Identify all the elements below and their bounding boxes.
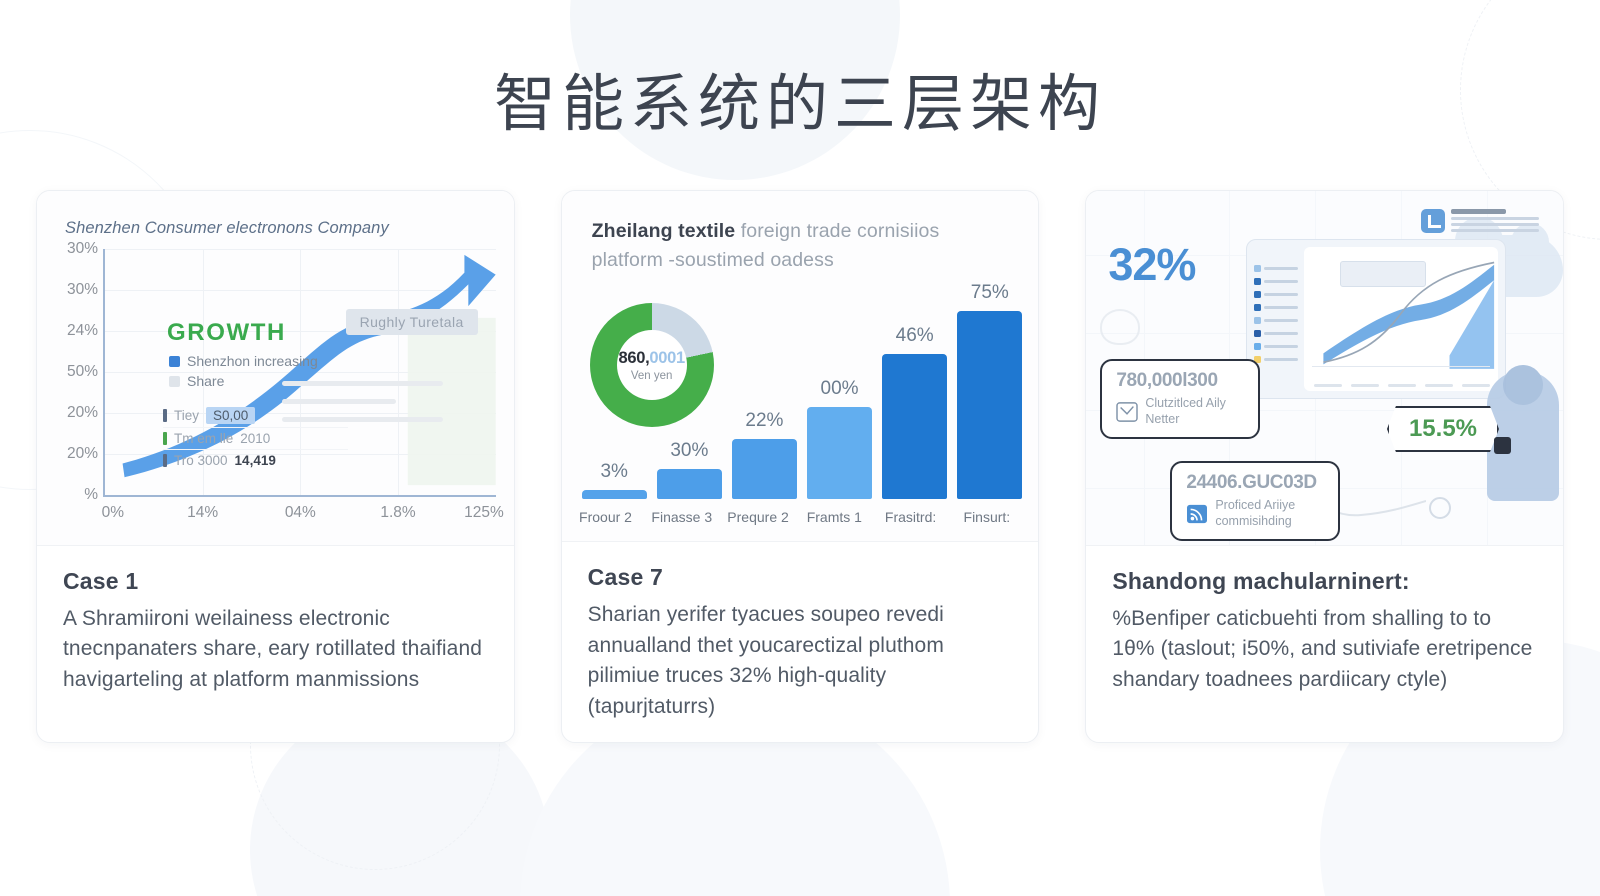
- growth-plot-area: 30% 30% 24% 50% 20% 20% % 0% 14% 04% 1.8…: [103, 249, 496, 497]
- bar-value-label: 46%: [896, 325, 934, 347]
- case-1-figure: Shenzhen Consumer electronons Company 30…: [37, 191, 514, 546]
- bar-chart: 3% 30% 22% 00%: [582, 269, 1023, 499]
- callout-text: Proficed Ariiye commisihding: [1215, 498, 1324, 529]
- tooltip-value: 2010: [240, 431, 270, 446]
- case-card-3[interactable]: 32%: [1085, 190, 1564, 743]
- case-description: Sharian yerifer tyacues soupeo revedi an…: [588, 600, 1013, 722]
- bar-value-label: 75%: [971, 282, 1009, 304]
- callout-badge-2: 24406.GUC03D Proficed Ariiye commisihdin…: [1170, 461, 1340, 541]
- mini-row: [282, 381, 444, 386]
- bar-rect: [732, 439, 797, 499]
- y-tick: 24%: [67, 322, 98, 340]
- figure-title-bold: Zheilang textile: [592, 220, 736, 242]
- legend-label: Share: [187, 373, 224, 389]
- person-illustration: [1487, 371, 1559, 501]
- chart-down-icon: [1116, 402, 1138, 422]
- monitor-chart: [1304, 247, 1498, 391]
- bar-value-label: 00%: [821, 378, 859, 400]
- sidebar-row: [1254, 278, 1298, 285]
- x-tick: 04%: [285, 504, 316, 522]
- bar-rect: [957, 311, 1022, 500]
- case-label: Case 7: [588, 564, 1013, 591]
- bar-column: 22%: [732, 269, 797, 499]
- case-label: Shandong machularninert:: [1112, 568, 1537, 595]
- mini-row: [282, 417, 444, 422]
- figure-title: Shenzhen Consumer electronons Company: [65, 219, 389, 238]
- case-1-body: Case 1 A Shramiironi weilainess electron…: [37, 546, 514, 715]
- callout-badge-1: 780,000l300 Clutzitlced Aily Netter: [1100, 359, 1260, 439]
- hex-badge-dot-icon: [1494, 437, 1511, 454]
- callout-value-faint: l300: [1182, 370, 1217, 391]
- bar-column: 30%: [657, 269, 722, 499]
- tooltip-bar-icon: [163, 409, 167, 422]
- case-card-2[interactable]: Zheilang textile foreign trade cornisiio…: [561, 190, 1040, 743]
- legend-swatch-icon: [169, 376, 180, 387]
- callout-value-main: 24406.: [1186, 472, 1242, 493]
- bar-category-label: Framts 1: [807, 509, 862, 525]
- y-tick: 20%: [67, 445, 98, 463]
- case-shandong-body: Shandong machularninert: %Benfiper catic…: [1086, 546, 1563, 715]
- page-title: 智能系统的三层架构: [0, 68, 1600, 139]
- bar-rect: [807, 407, 872, 499]
- x-tick: 0%: [102, 504, 124, 522]
- bar-value-label: 3%: [600, 461, 627, 483]
- tooltip-bar-icon: [163, 454, 167, 467]
- sidebar-row: [1254, 265, 1298, 272]
- highlight-percent: 32%: [1108, 239, 1195, 291]
- bar-rect: [882, 354, 947, 499]
- callout-value: 780,000l300: [1116, 370, 1244, 392]
- growth-headline: GROWTH: [167, 319, 286, 347]
- figure-title: Zheilang textile foreign trade cornisiio…: [592, 217, 1015, 276]
- case-description: A Shramiironi weilainess electronic tnec…: [63, 604, 488, 695]
- sidebar-row: [1254, 343, 1298, 350]
- tooltip-bar-icon: [163, 432, 167, 445]
- dashboard-monitor: [1246, 239, 1506, 399]
- bar-value-label: 22%: [745, 410, 783, 432]
- x-tick: 14%: [187, 504, 218, 522]
- tooltip-row: Tro 3000 14,419: [163, 450, 348, 471]
- sidebar-row: [1254, 304, 1298, 311]
- monitor-sidebar: [1254, 247, 1298, 391]
- monitor-bars: [1314, 279, 1490, 365]
- slide-root: 智能系统的三层架构 Shenzhen Consumer electronons …: [0, 0, 1600, 896]
- rss-feed-icon: [1186, 504, 1208, 524]
- legend-label: Shenzhon increasing: [187, 353, 318, 369]
- bar-column: 75%: [957, 269, 1022, 499]
- case-card-1[interactable]: Shenzhen Consumer electronons Company 30…: [36, 190, 515, 743]
- legend-swatch-icon: [169, 356, 180, 367]
- tooltip-label: Tm em lle: [174, 431, 233, 446]
- case-card-list: Shenzhen Consumer electronons Company 30…: [36, 190, 1564, 743]
- bar-column: 00%: [807, 269, 872, 499]
- case-label: Case 1: [63, 568, 488, 595]
- callout-value: 24406.GUC03D: [1186, 472, 1324, 494]
- sidebar-row: [1254, 317, 1298, 324]
- bar-rect: [657, 469, 722, 499]
- brand-logo-text: [1451, 209, 1539, 235]
- legend-item: Shenzhon increasing: [169, 353, 318, 369]
- case-shandong-figure: 32%: [1086, 191, 1563, 546]
- y-tick: 20%: [67, 404, 98, 422]
- ghost-shape-icon: [1100, 309, 1140, 345]
- hex-stat-badge: 15.5%: [1387, 406, 1499, 452]
- chart-mini-rows: [282, 381, 472, 435]
- sidebar-row: [1254, 356, 1298, 363]
- brand-logo-icon: [1421, 209, 1445, 233]
- tooltip-value: 14,419: [235, 453, 276, 468]
- x-tick: 1.8%: [380, 504, 415, 522]
- y-tick: 50%: [67, 363, 98, 381]
- case-7-figure: Zheilang textile foreign trade cornisiio…: [562, 191, 1039, 542]
- x-tick: 125%: [464, 504, 504, 522]
- case-description: %Benfiper caticbuehti from shalling to t…: [1112, 604, 1537, 695]
- bar-column: 46%: [882, 269, 947, 499]
- bar-category-label: Finsurt:: [964, 509, 1011, 525]
- case-7-body: Case 7 Sharian yerifer tyacues soupeo re…: [562, 542, 1039, 742]
- callout-value-faint: GUC03D: [1242, 472, 1317, 493]
- callout-value-main: 780,000: [1116, 370, 1182, 391]
- chart-badge: Rughly Turetala: [346, 309, 478, 335]
- bar-column: 3%: [582, 269, 647, 499]
- sidebar-row: [1254, 330, 1298, 337]
- bar-category-label: Prequre 2: [727, 509, 788, 525]
- bar-category-label: Froour 2: [579, 509, 632, 525]
- callout-text: Clutzitlced Aily Netter: [1145, 396, 1244, 427]
- sidebar-row: [1254, 291, 1298, 298]
- bar-category-label: Finasse 3: [651, 509, 712, 525]
- bar-value-label: 30%: [670, 440, 708, 462]
- connector-node-icon: [1429, 497, 1451, 519]
- tooltip-value: S0,00: [206, 407, 255, 424]
- mini-row: [282, 399, 396, 404]
- tooltip-label: Tro 3000: [174, 453, 228, 468]
- bar-rect: [582, 490, 647, 499]
- y-tick: %: [84, 486, 98, 504]
- tooltip-label: Tiey: [174, 408, 199, 423]
- y-tick: 30%: [67, 281, 98, 299]
- monitor-axis-labels: [1314, 384, 1490, 387]
- bar-category-label: Frasitrd:: [885, 509, 936, 525]
- y-tick: 30%: [67, 240, 98, 258]
